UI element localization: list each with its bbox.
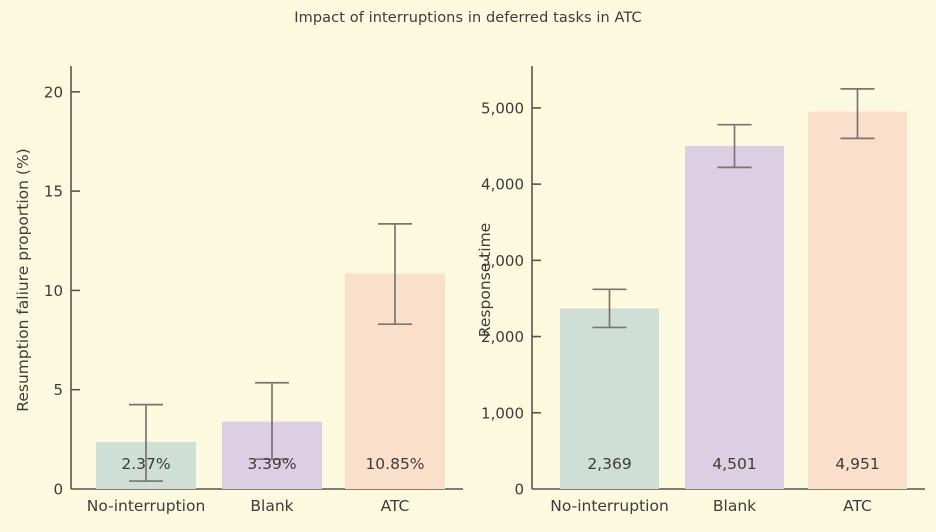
bar-group: 10.85%ATC (345, 224, 445, 515)
x-axis-category-label: No-interruption (87, 497, 206, 515)
y-axis-tick-label: 15 (44, 183, 63, 201)
x-axis-category-label: Blank (713, 497, 756, 515)
x-axis-category-label: ATC (381, 497, 410, 515)
bar-group: 4,951ATC (808, 89, 907, 515)
bar-group: 4,501Blank (685, 125, 784, 515)
y-axis-tick-label: 10 (44, 282, 63, 300)
y-axis-tick-label: 0 (53, 481, 63, 499)
bar-value-label: 10.85% (365, 455, 424, 473)
bar-atc (808, 112, 907, 489)
y-axis-tick-label: 5 (53, 381, 63, 399)
y-axis-title: Response time (476, 223, 494, 337)
bar-group: 2,369No-interruption (550, 289, 669, 515)
y-axis-tick-label: 4,000 (481, 176, 524, 194)
x-axis-category-label: No-interruption (550, 497, 669, 515)
y-axis-tick-label: 5,000 (481, 99, 524, 117)
bar-value-label: 2,369 (587, 455, 631, 473)
bar-group: 2.37%No-interruption (87, 405, 206, 515)
y-axis-title: Resumption faliure proportion (%) (14, 148, 32, 411)
bar-chart-response-time: 01,0002,0003,0004,0005,000Response time2… (468, 0, 936, 532)
bar-value-label: 2.37% (121, 455, 170, 473)
figure-container: Impact of interruptions in deferred task… (0, 0, 936, 532)
bar-value-label: 4,951 (835, 455, 879, 473)
bar-group: 3.39%Blank (222, 383, 322, 515)
bar-value-label: 3.39% (247, 455, 296, 473)
bar-chart-resumption-failure: 05101520Resumption faliure proportion (%… (0, 0, 468, 532)
bar-value-label: 4,501 (712, 455, 756, 473)
y-axis-tick-label: 1,000 (481, 404, 524, 422)
y-axis-tick-label: 20 (44, 83, 63, 101)
chart-panel-left: 05101520Resumption faliure proportion (%… (0, 0, 468, 532)
x-axis-category-label: Blank (250, 497, 293, 515)
y-axis-tick-label: 0 (514, 481, 524, 499)
chart-panel-right: 01,0002,0003,0004,0005,000Response time2… (468, 0, 936, 532)
bar-blank (685, 146, 784, 489)
x-axis-category-label: ATC (843, 497, 872, 515)
